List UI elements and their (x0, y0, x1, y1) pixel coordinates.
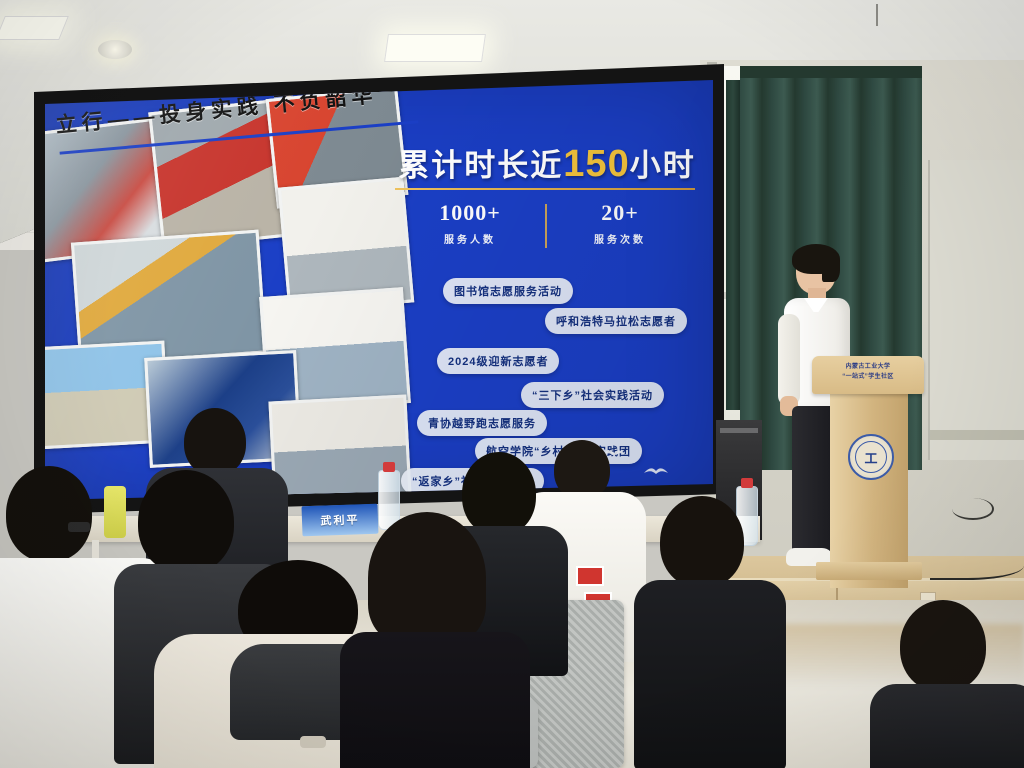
activity-pill: 图书馆志愿服务活动 (443, 278, 573, 304)
jacket-logo (300, 736, 326, 748)
podium-base (816, 562, 922, 580)
headline-rule (395, 188, 695, 190)
slide-headline: 累计时长近150小时 (397, 140, 697, 186)
activity-pill: 呼和浩特马拉松志愿者 (545, 308, 687, 334)
podium-body (830, 392, 908, 588)
crest-letter: 工 (855, 441, 887, 473)
recessed-downlight (98, 40, 132, 59)
ceiling-panel-light (384, 34, 486, 62)
led-screen: 立行——投身实践 不负韶华 累计时长近150小时 1000+ 服务人数 20+ … (45, 80, 713, 500)
activity-pill: 2024级迎新志愿者 (437, 348, 559, 374)
curtain-rail (740, 66, 922, 78)
headline-number: 150 (563, 143, 629, 185)
stat-item: 1000+ 服务人数 (395, 200, 545, 246)
ceiling-panel-light (0, 16, 69, 40)
activity-pill: 青协越野跑志愿服务 (417, 410, 547, 436)
presenter-hair-back (822, 252, 840, 282)
gull-icon (643, 464, 669, 477)
stat-label: 服务人数 (395, 231, 545, 246)
stat-label: 服务次数 (545, 231, 695, 246)
stat-item: 20+ 服务次数 (545, 200, 695, 246)
podium-sign: 内蒙古工业大学 “一站式”学生社区 (826, 362, 910, 382)
coiled-cable (952, 498, 994, 520)
university-crest-icon: 工 (848, 434, 894, 480)
lecture-hall-photo: 立行——投身实践 不负韶华 累计时长近150小时 1000+ 服务人数 20+ … (0, 0, 1024, 768)
headline-prefix: 累计时长近 (398, 148, 563, 183)
podium-sign-line1: 内蒙古工业大学 (826, 362, 910, 372)
podium-top: 内蒙古工业大学 “一站式”学生社区 (812, 356, 924, 394)
name-placard-text: 武利平 (320, 511, 360, 528)
headline-suffix: 小时 (630, 148, 696, 183)
podium: 内蒙古工业大学 “一站式”学生社区 工 (812, 356, 924, 618)
wall-dado (930, 430, 1024, 440)
hanging-wire (876, 4, 878, 26)
stat-divider (545, 204, 547, 248)
yellow-cup (104, 486, 126, 538)
wall-seam (928, 160, 930, 460)
activity-pill: “三下乡”社会实践活动 (521, 382, 664, 408)
badge-sticker (576, 566, 604, 586)
right-wall (930, 160, 1024, 460)
stat-value: 20+ (545, 200, 695, 226)
name-placard: 武利平 (301, 504, 378, 537)
presenter-arm (778, 314, 800, 406)
presentation-slide: 立行——投身实践 不负韶华 累计时长近150小时 1000+ 服务人数 20+ … (45, 80, 713, 500)
stat-value: 1000+ (395, 200, 545, 226)
eyeglasses-icon (68, 522, 90, 532)
podium-sign-line2: “一站式”学生社区 (826, 372, 910, 382)
